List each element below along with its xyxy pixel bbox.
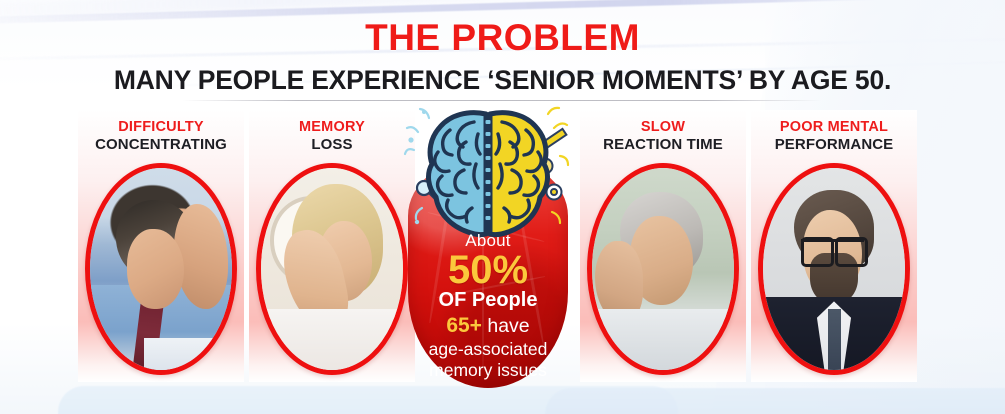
card-caption-line1: DIFFICULTY — [78, 120, 244, 136]
stat-percent-value: 50% — [408, 250, 568, 291]
card-caption-line2: LOSS — [249, 137, 415, 153]
stat-of-people-label: OF People — [408, 289, 568, 311]
symptom-card-poor-mental-performance[interactable]: POOR MENTAL PERFORMANCE — [751, 110, 917, 382]
card-caption: POOR MENTAL PERFORMANCE — [751, 120, 917, 153]
header-divider — [182, 100, 822, 101]
card-caption-line2: REACTION TIME — [580, 137, 746, 153]
symptom-card-memory-loss[interactable]: MEMORY LOSS — [249, 110, 415, 382]
card-caption-line2: PERFORMANCE — [751, 137, 917, 153]
photo-woman-thinking-near-clock — [261, 168, 403, 370]
photo-man-frustrated-hand-on-head — [90, 168, 232, 370]
symptom-card-difficulty-concentrating[interactable]: DIFFICULTY CONCENTRATING — [78, 110, 244, 382]
photo-bearded-man-glasses-suit — [763, 168, 905, 370]
brain-illustration — [402, 104, 574, 244]
card-photo-frame — [256, 163, 408, 375]
card-photo-frame — [758, 163, 910, 375]
card-caption-line1: MEMORY — [249, 120, 415, 136]
card-caption-line2: CONCENTRATING — [78, 137, 244, 153]
brain-statistic-text: About 50% OF People 65+ have age-associa… — [408, 232, 568, 381]
card-caption: SLOW REACTION TIME — [580, 120, 746, 153]
page-title: THE PROBLEM — [0, 19, 1005, 56]
stat-description-line2: memory issues — [408, 360, 568, 381]
stat-age-line: 65+ have — [408, 314, 568, 339]
header: THE PROBLEM MANY PEOPLE EXPERIENCE ‘SENI… — [0, 0, 1005, 94]
card-caption: MEMORY LOSS — [249, 120, 415, 153]
stat-age-prefix: 65+ — [446, 314, 482, 337]
card-caption: DIFFICULTY CONCENTRATING — [78, 120, 244, 153]
card-photo-frame — [587, 163, 739, 375]
card-photo-frame — [85, 163, 237, 375]
page-subtitle: MANY PEOPLE EXPERIENCE ‘SENIOR MOMENTS’ … — [0, 67, 1005, 94]
symptom-card-slow-reaction-time[interactable]: SLOW REACTION TIME — [580, 110, 746, 382]
brain-statistic-panel: About 50% OF People 65+ have age-associa… — [402, 104, 574, 390]
stat-description-line1: age-associated — [408, 339, 568, 360]
stat-age-suffix: have — [482, 315, 530, 337]
photo-older-man-hand-to-temple — [592, 168, 734, 370]
card-caption-line1: POOR MENTAL — [751, 120, 917, 136]
card-caption-line1: SLOW — [580, 120, 746, 136]
